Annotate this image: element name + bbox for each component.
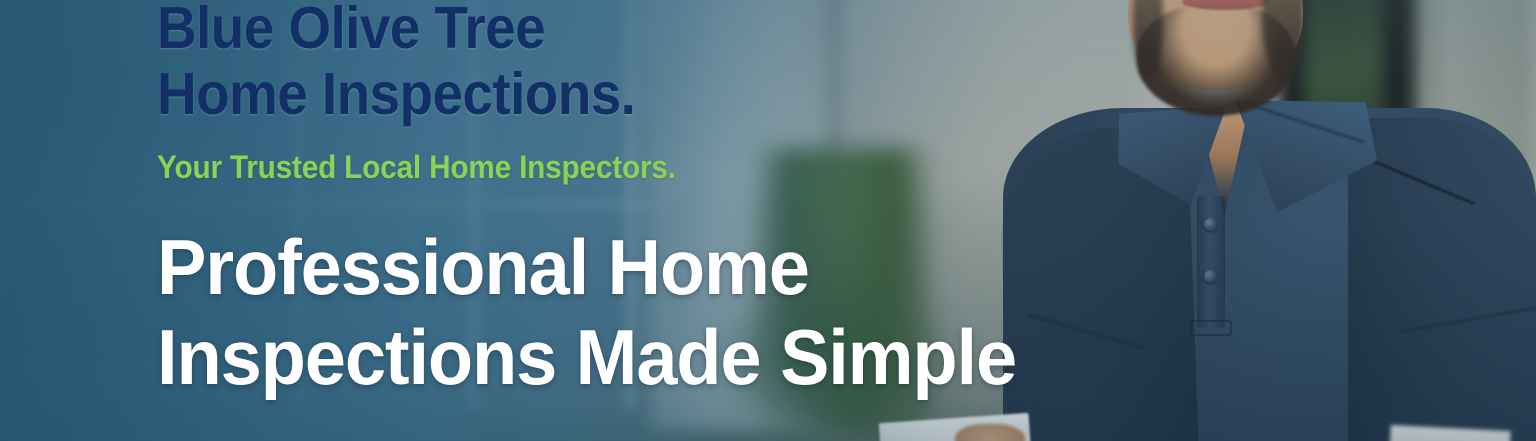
hero-banner: Blue Olive Tree Home Inspections. Your T… xyxy=(0,0,1536,441)
brand-name-line-2: Home Inspections. xyxy=(157,61,635,128)
brand-tagline: Your Trusted Local Home Inspectors. xyxy=(157,148,676,186)
hero-headline-line-1: Professional Home xyxy=(157,222,809,312)
hero-content: Blue Olive Tree Home Inspections. Your T… xyxy=(157,0,1157,441)
brand-name-line-1: Blue Olive Tree xyxy=(157,0,545,62)
hero-headline-line-2: Inspections Made Simple xyxy=(157,312,1016,402)
